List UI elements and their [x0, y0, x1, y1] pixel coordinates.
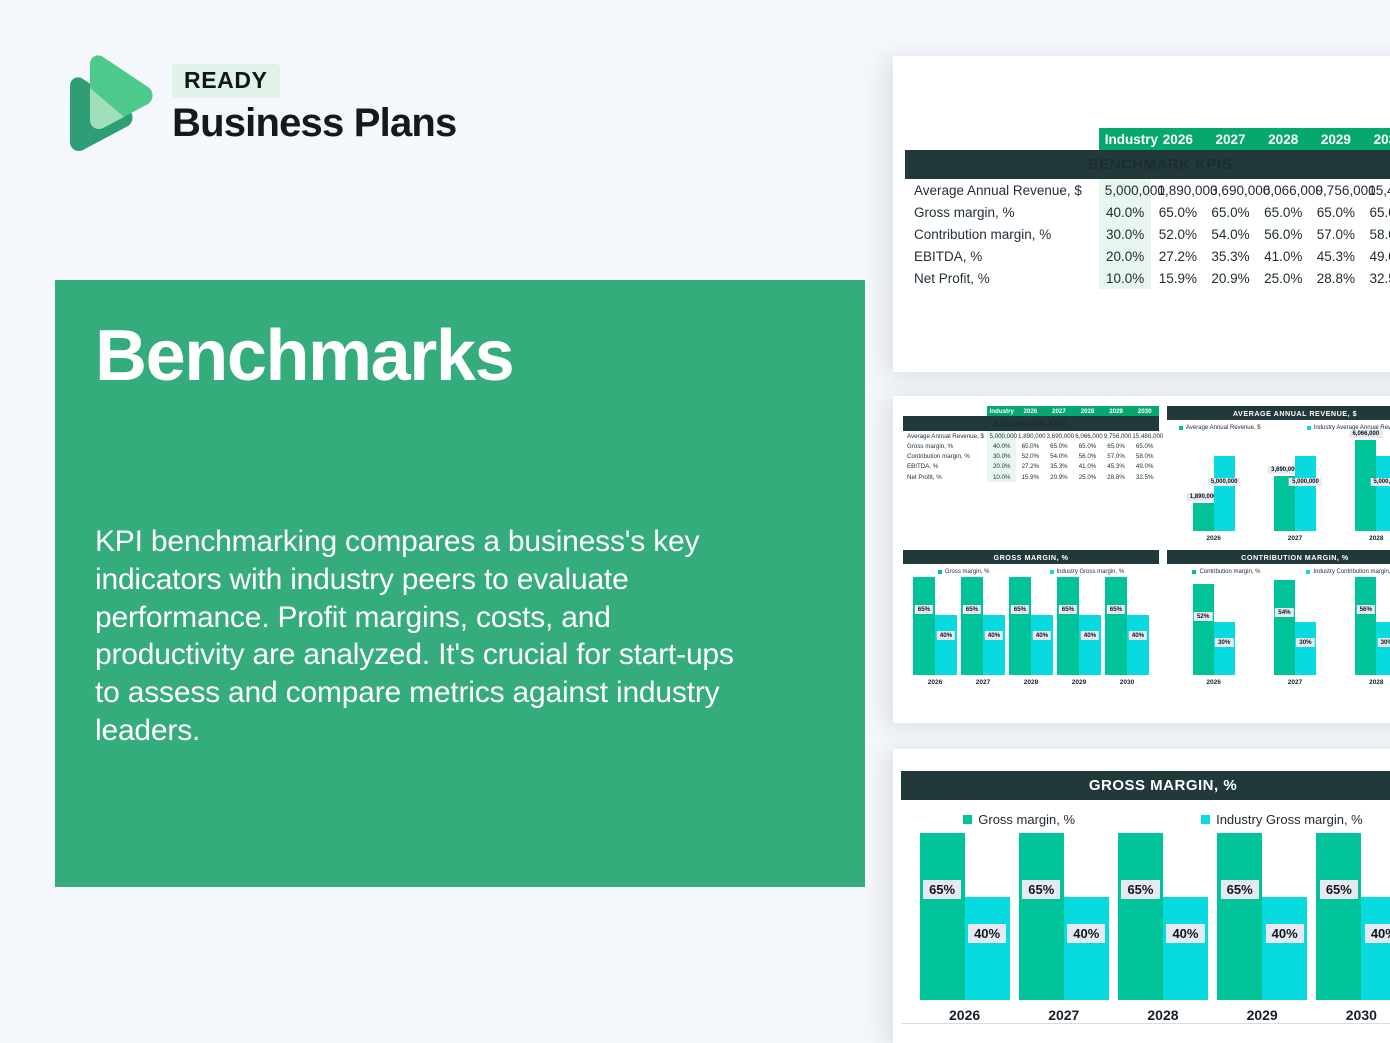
cell-value: 27.2%	[1016, 462, 1045, 472]
x-axis-label: 2029	[1247, 1007, 1278, 1023]
chart-plot-area: 65%40%202665%40%202765%40%202865%40%2029…	[903, 581, 1159, 686]
legend-item[interactable]: Average Annual Revenue, $	[1179, 425, 1261, 431]
chart-title: AVERAGE ANNUAL REVENUE, $	[1167, 406, 1390, 420]
cell-value: 25.0%	[1257, 267, 1310, 289]
cell-industry: 30.0%	[987, 452, 1016, 462]
cell-value: 1,890,000	[1016, 431, 1045, 441]
bar-value-label: 65%	[1059, 605, 1077, 614]
cell-value: 54.0%	[1204, 223, 1257, 245]
cell-industry: 10.0%	[1099, 267, 1152, 289]
gross-margin-column: GROSS MARGIN, % Gross margin, %Industry …	[899, 550, 1163, 686]
legend-label: Contribution margin, %	[1199, 569, 1260, 575]
table-row: Gross margin, %40.0%65.0%65.0%65.0%65.0%…	[903, 441, 1159, 451]
cell-value: 35.3%	[1045, 462, 1074, 472]
legend-label: Average Annual Revenue, $	[1186, 425, 1261, 431]
legend-label: Gross margin, %	[945, 569, 990, 575]
chart-title: CONTRIBUTION MARGIN, %	[1167, 550, 1390, 564]
dashboard-row-1: BENCHMARK KPIS Industry20262027202820292…	[899, 406, 1390, 542]
x-axis-label: 2029	[1072, 679, 1086, 686]
cell-value: 52.0%	[1016, 452, 1045, 462]
legend-swatch-icon	[1179, 426, 1183, 430]
chart-legend: Gross margin, %Industry Gross margin, %	[903, 569, 1159, 575]
table-col-2029: 2029	[1102, 406, 1131, 416]
bar-group: 3,690,0005,000,0002027	[1274, 456, 1316, 542]
cell-value: 9,756,000	[1310, 179, 1363, 201]
cell-value: 3,690,000	[1204, 179, 1257, 201]
bar-industry[interactable]: 5,000,000	[1376, 456, 1390, 531]
table-title: BENCHMARK KPIS	[903, 416, 1159, 431]
bar-industry[interactable]: 40%	[983, 615, 1005, 675]
cell-value: 65.0%	[1151, 201, 1204, 223]
gross-margin-chart: GROSS MARGIN, % Gross margin, %Industry …	[901, 771, 1390, 1024]
bar-actual[interactable]: 65%	[1118, 833, 1163, 1000]
cell-value: 45.3%	[1310, 245, 1363, 267]
bar-industry[interactable]: 40%	[1079, 615, 1101, 675]
legend-item[interactable]: Industry Contribution margin, %	[1306, 569, 1390, 575]
x-axis-label: 2026	[1206, 679, 1220, 686]
bar-actual[interactable]: 65%	[961, 577, 983, 675]
bar-value-label: 52%	[1194, 612, 1212, 621]
bar-industry[interactable]: 40%	[1262, 897, 1307, 1000]
bar-value-label: 40%	[1166, 924, 1204, 943]
page-title: Benchmarks	[95, 320, 513, 392]
cell-value: 15.9%	[1151, 267, 1204, 289]
brand-logo[interactable]: READY Business Plans	[56, 52, 456, 152]
table-row: EBITDA, %20.0%27.2%35.3%41.0%45.3%49.0%	[903, 462, 1159, 472]
cell-value: 35.3%	[1204, 245, 1257, 267]
bars: 65%40%	[913, 577, 957, 675]
legend-swatch-icon	[1306, 570, 1310, 574]
legend-swatch-icon	[963, 815, 972, 824]
legend-label: Industry Gross margin, %	[1216, 812, 1363, 827]
table-row: Average Annual Revenue, $5,000,0001,890,…	[905, 179, 1390, 201]
chart-plot-area: 65%40%202665%40%202765%40%202865%40%2029…	[901, 843, 1390, 1023]
bar-actual[interactable]: 65%	[913, 577, 935, 675]
cell-value: 65.0%	[1362, 201, 1390, 223]
cell-value: 20.9%	[1204, 267, 1257, 289]
cell-value: 49.0%	[1362, 245, 1390, 267]
bar-industry[interactable]: 40%	[1361, 897, 1390, 1000]
legend-swatch-icon	[1050, 570, 1054, 574]
bar-industry[interactable]: 40%	[935, 615, 957, 675]
bars: 65%40%	[1057, 577, 1101, 675]
bar-value-label: 65%	[963, 605, 981, 614]
bar-group: 65%40%2026	[913, 577, 957, 686]
bar-industry[interactable]: 40%	[1127, 615, 1149, 675]
mini-table-column: BENCHMARK KPIS Industry20262027202820292…	[899, 406, 1163, 542]
play-triangle-logo-icon	[56, 52, 156, 152]
table-row: Net Profit, %10.0%15.9%20.9%25.0%28.8%32…	[903, 472, 1159, 482]
bar-actual[interactable]: 52%	[1193, 584, 1214, 675]
cell-value: 65.0%	[1310, 201, 1363, 223]
table-title: BENCHMARK KPIS	[905, 150, 1390, 179]
bars: 65%40%	[1217, 833, 1307, 1000]
bar-group: 54%30%2027	[1274, 580, 1316, 686]
bar-industry[interactable]: 40%	[965, 897, 1010, 1000]
x-axis-label: 2027	[976, 679, 990, 686]
x-axis-label: 2027	[1288, 535, 1302, 542]
bar-value-label: 65%	[915, 605, 933, 614]
bar-value-label: 40%	[1067, 924, 1105, 943]
bar-actual[interactable]: 54%	[1274, 580, 1295, 675]
chart-legend: Gross margin, %Industry Gross margin, %	[901, 812, 1390, 827]
bar-value-label: 6,066,000	[1349, 430, 1382, 438]
legend-item[interactable]: Industry Gross margin, %	[1050, 569, 1125, 575]
bar-value-label: 54%	[1275, 608, 1293, 617]
revenue-chart-column: AVERAGE ANNUAL REVENUE, $ Average Annual…	[1163, 406, 1390, 542]
bar-group: 65%40%2027	[961, 577, 1005, 686]
bar-value-label: 65%	[923, 880, 961, 899]
cell-value: 56.0%	[1257, 223, 1310, 245]
cell-industry: 5,000,000	[987, 431, 1016, 441]
table-body: Average Annual Revenue, $5,000,0001,890,…	[905, 179, 1390, 289]
table-col-2030: 2030	[1130, 406, 1159, 416]
table-col-2028: 2028	[1073, 406, 1102, 416]
cell-industry: 30.0%	[1099, 223, 1152, 245]
cell-value: 15,480,000	[1130, 431, 1159, 441]
table-col-blank	[903, 406, 987, 416]
legend-swatch-icon	[1307, 426, 1311, 430]
bar-industry[interactable]: 30%	[1376, 622, 1390, 675]
bar-value-label: 40%	[937, 631, 955, 640]
bar-value-label: 40%	[1365, 924, 1390, 943]
table-col-2029: 2029	[1310, 128, 1363, 150]
row-label: EBITDA, %	[905, 245, 1099, 267]
kpi-table-card: BENCHMARK KPIS Industry20262027202820292…	[893, 56, 1390, 372]
bar-group: 6,066,0005,000,0002028	[1355, 440, 1390, 542]
bars: 65%40%	[1316, 833, 1390, 1000]
row-label: Net Profit, %	[903, 472, 987, 482]
legend-item[interactable]: Industry Gross margin, %	[1201, 812, 1363, 827]
bars: 52%30%	[1193, 584, 1235, 675]
chart-plot-area: 52%30%202654%30%202756%30%2028	[1167, 581, 1390, 686]
benchmark-kpi-table-mini: BENCHMARK KPIS Industry20262027202820292…	[903, 406, 1159, 482]
bar-actual[interactable]: 65%	[920, 833, 965, 1000]
cell-value: 65.0%	[1204, 201, 1257, 223]
bar-value-label: 40%	[1081, 631, 1099, 640]
legend-swatch-icon	[1192, 570, 1196, 574]
cell-industry: 10.0%	[987, 472, 1016, 482]
x-axis-label: 2026	[1206, 535, 1220, 542]
cell-value: 65.0%	[1016, 441, 1045, 451]
bar-actual[interactable]: 65%	[1217, 833, 1262, 1000]
gross-margin-card: GROSS MARGIN, % Gross margin, %Industry …	[893, 749, 1390, 1043]
bar-value-label: 65%	[1221, 880, 1259, 899]
x-axis-label: 2028	[1369, 679, 1383, 686]
table-row: Contribution margin, %30.0%52.0%54.0%56.…	[905, 223, 1390, 245]
x-axis-label: 2026	[949, 1007, 980, 1023]
x-axis-label: 2026	[928, 679, 942, 686]
chart-legend: Contribution margin, %Industry Contribut…	[1167, 569, 1390, 575]
legend-swatch-icon	[938, 570, 942, 574]
x-axis-label: 2028	[1147, 1007, 1178, 1023]
bar-industry[interactable]: 5,000,000	[1295, 456, 1316, 531]
bar-actual[interactable]: 65%	[1057, 577, 1079, 675]
legend-item[interactable]: Gross margin, %	[963, 812, 1075, 827]
bars: 65%40%	[1009, 577, 1053, 675]
brand-wordmark: READY Business Plans	[172, 60, 456, 144]
bar-value-label: 5,000,000	[1289, 478, 1322, 486]
bars: 65%40%	[961, 577, 1005, 675]
x-axis-label: 2028	[1369, 535, 1383, 542]
bar-industry[interactable]: 30%	[1295, 622, 1316, 675]
cell-value: 15.9%	[1016, 472, 1045, 482]
bar-group: 65%40%2029	[1217, 833, 1307, 1023]
bar-industry[interactable]: 40%	[1064, 897, 1109, 1000]
hero-description: KPI benchmarking compares a business's k…	[95, 523, 763, 750]
cell-value: 65.0%	[1045, 441, 1074, 451]
table-header-row: Industry20262027202820292030	[905, 128, 1390, 150]
cell-value: 6,066,000	[1073, 431, 1102, 441]
x-axis-label: 2030	[1120, 679, 1134, 686]
table-row: Gross margin, %40.0%65.0%65.0%65.0%65.0%…	[905, 201, 1390, 223]
bar-value-label: 40%	[968, 924, 1006, 943]
bar-actual[interactable]: 1,890,000	[1193, 503, 1214, 531]
bar-value-label: 5,000,000	[1370, 478, 1390, 486]
cell-industry: 20.0%	[1099, 245, 1152, 267]
bars: 56%30%	[1355, 577, 1390, 675]
cell-value: 65.0%	[1102, 441, 1131, 451]
cell-industry: 5,000,000	[1099, 179, 1152, 201]
ready-badge: READY	[172, 64, 280, 98]
bar-value-label: 65%	[1022, 880, 1060, 899]
cell-value: 32.5%	[1130, 472, 1159, 482]
cell-value: 41.0%	[1073, 462, 1102, 472]
cell-value: 32.5%	[1362, 267, 1390, 289]
bar-group: 65%40%2030	[1316, 833, 1390, 1023]
table-col-2030: 2030	[1362, 128, 1390, 150]
bars: 65%40%	[1105, 577, 1149, 675]
bar-group: 65%40%2027	[1019, 833, 1109, 1023]
bar-industry[interactable]: 5,000,000	[1214, 456, 1235, 531]
bar-group: 52%30%2026	[1193, 584, 1235, 686]
cell-value: 41.0%	[1257, 245, 1310, 267]
bar-actual[interactable]: 65%	[1019, 833, 1064, 1000]
legend-label: Industry Gross margin, %	[1057, 569, 1125, 575]
cell-value: 6,066,000	[1257, 179, 1310, 201]
bar-value-label: 65%	[1107, 605, 1125, 614]
x-axis-label: 2028	[1024, 679, 1038, 686]
bar-industry[interactable]: 40%	[1163, 897, 1208, 1000]
cell-value: 28.8%	[1310, 267, 1363, 289]
bar-value-label: 65%	[1320, 880, 1358, 899]
cell-value: 3,690,000	[1045, 431, 1074, 441]
bar-value-label: 30%	[1378, 638, 1390, 647]
cell-value: 57.0%	[1310, 223, 1363, 245]
row-label: Average Annual Revenue, $	[905, 179, 1099, 201]
chart-title: GROSS MARGIN, %	[901, 771, 1390, 800]
cell-industry: 20.0%	[987, 462, 1016, 472]
cell-value: 49.0%	[1130, 462, 1159, 472]
table-col-2027: 2027	[1045, 406, 1074, 416]
average-annual-revenue-chart: AVERAGE ANNUAL REVENUE, $ Average Annual…	[1167, 406, 1390, 542]
table-col-industry: Industry	[1099, 128, 1152, 150]
benchmark-kpi-table: BENCHMARK KPIS Industry20262027202820292…	[905, 128, 1390, 289]
row-label: Gross margin, %	[905, 201, 1099, 223]
bars: 6,066,0005,000,000	[1355, 440, 1390, 531]
bars: 65%40%	[1019, 833, 1109, 1000]
cell-value: 57.0%	[1102, 452, 1131, 462]
bar-group: 65%40%2028	[1118, 833, 1208, 1023]
cell-value: 20.9%	[1045, 472, 1074, 482]
bar-group: 65%40%2030	[1105, 577, 1149, 686]
cell-value: 45.3%	[1102, 462, 1131, 472]
row-label: EBITDA, %	[903, 462, 987, 472]
bar-value-label: 40%	[985, 631, 1003, 640]
bars: 1,890,0005,000,000	[1193, 456, 1235, 531]
legend-label: Gross margin, %	[978, 812, 1075, 827]
table-col-2028: 2028	[1257, 128, 1310, 150]
bar-group: 65%40%2029	[1057, 577, 1101, 686]
cell-value: 25.0%	[1073, 472, 1102, 482]
row-label: Contribution margin, %	[903, 452, 987, 462]
bar-group: 65%40%2028	[1009, 577, 1053, 686]
slide-canvas: READY Business Plans Benchmarks KPI benc…	[0, 0, 1390, 1043]
bar-value-label: 65%	[1011, 605, 1029, 614]
legend-item[interactable]: Gross margin, %	[938, 569, 990, 575]
x-axis-label: 2027	[1048, 1007, 1079, 1023]
bar-group: 56%30%2028	[1355, 577, 1390, 686]
cell-value: 27.2%	[1151, 245, 1204, 267]
chart-plot-area: 1,890,0005,000,00020263,690,0005,000,000…	[1167, 437, 1390, 542]
row-label: Net Profit, %	[905, 267, 1099, 289]
gross-margin-chart-mini: GROSS MARGIN, % Gross margin, %Industry …	[903, 550, 1159, 686]
bar-value-label: 56%	[1357, 605, 1375, 614]
cell-value: 52.0%	[1151, 223, 1204, 245]
bar-group: 1,890,0005,000,0002026	[1193, 456, 1235, 542]
legend-label: Industry Contribution margin, %	[1313, 569, 1390, 575]
row-label: Gross margin, %	[903, 441, 987, 451]
contribution-margin-chart: CONTRIBUTION MARGIN, % Contribution marg…	[1167, 550, 1390, 686]
bar-industry[interactable]: 40%	[1031, 615, 1053, 675]
x-axis-line	[901, 1023, 1390, 1024]
table-col-2026: 2026	[1016, 406, 1045, 416]
legend-swatch-icon	[1201, 815, 1210, 824]
bar-value-label: 40%	[1266, 924, 1304, 943]
table-row: Average Annual Revenue, $5,000,0001,890,…	[903, 431, 1159, 441]
cell-value: 58.0%	[1130, 452, 1159, 462]
bar-industry[interactable]: 30%	[1214, 622, 1235, 675]
bar-actual[interactable]: 65%	[1009, 577, 1031, 675]
cell-value: 65.0%	[1073, 441, 1102, 451]
dashboard-row-2: GROSS MARGIN, % Gross margin, %Industry …	[899, 550, 1390, 686]
bar-value-label: 40%	[1033, 631, 1051, 640]
cell-value: 9,756,000	[1102, 431, 1131, 441]
row-label: Average Annual Revenue, $	[903, 431, 987, 441]
bar-value-label: 40%	[1129, 631, 1147, 640]
bar-group: 65%40%2026	[920, 833, 1010, 1023]
dashboard-preview-card: BENCHMARK KPIS Industry20262027202820292…	[893, 396, 1390, 723]
bar-value-label: 30%	[1296, 638, 1314, 647]
cell-value: 56.0%	[1073, 452, 1102, 462]
table-col-blank	[905, 128, 1099, 150]
x-axis-label: 2030	[1346, 1007, 1377, 1023]
cell-industry: 40.0%	[1099, 201, 1152, 223]
table-row: EBITDA, %20.0%27.2%35.3%41.0%45.3%49.0%	[905, 245, 1390, 267]
bar-value-label: 5,000,000	[1208, 478, 1241, 486]
brand-name: Business Plans	[172, 102, 456, 144]
cell-value: 54.0%	[1045, 452, 1074, 462]
table-col-2027: 2027	[1204, 128, 1257, 150]
legend-item[interactable]: Contribution margin, %	[1192, 569, 1260, 575]
bars: 65%40%	[1118, 833, 1208, 1000]
table-col-industry: Industry	[987, 406, 1016, 416]
bars: 54%30%	[1274, 580, 1316, 675]
cell-value: 65.0%	[1130, 441, 1159, 451]
bar-actual[interactable]: 56%	[1355, 577, 1376, 675]
table-col-2026: 2026	[1151, 128, 1204, 150]
row-label: Contribution margin, %	[905, 223, 1099, 245]
x-axis-label: 2027	[1288, 679, 1302, 686]
bar-actual[interactable]: 65%	[1316, 833, 1361, 1000]
bar-value-label: 65%	[1121, 880, 1159, 899]
table-row: Contribution margin, %30.0%52.0%54.0%56.…	[903, 452, 1159, 462]
bars: 65%40%	[920, 833, 1010, 1000]
contribution-margin-column: CONTRIBUTION MARGIN, % Contribution marg…	[1163, 550, 1390, 686]
bar-value-label: 30%	[1215, 638, 1233, 647]
hero-panel: Benchmarks KPI benchmarking compares a b…	[55, 280, 865, 887]
bars: 3,690,0005,000,000	[1274, 456, 1316, 531]
cell-value: 65.0%	[1257, 201, 1310, 223]
table-row: Net Profit, %10.0%15.9%20.9%25.0%28.8%32…	[905, 267, 1390, 289]
cell-value: 28.8%	[1102, 472, 1131, 482]
chart-title: GROSS MARGIN, %	[903, 550, 1159, 564]
bar-actual[interactable]: 65%	[1105, 577, 1127, 675]
cell-value: 58.0%	[1362, 223, 1390, 245]
cell-value: 1,890,000	[1151, 179, 1204, 201]
cell-industry: 40.0%	[987, 441, 1016, 451]
